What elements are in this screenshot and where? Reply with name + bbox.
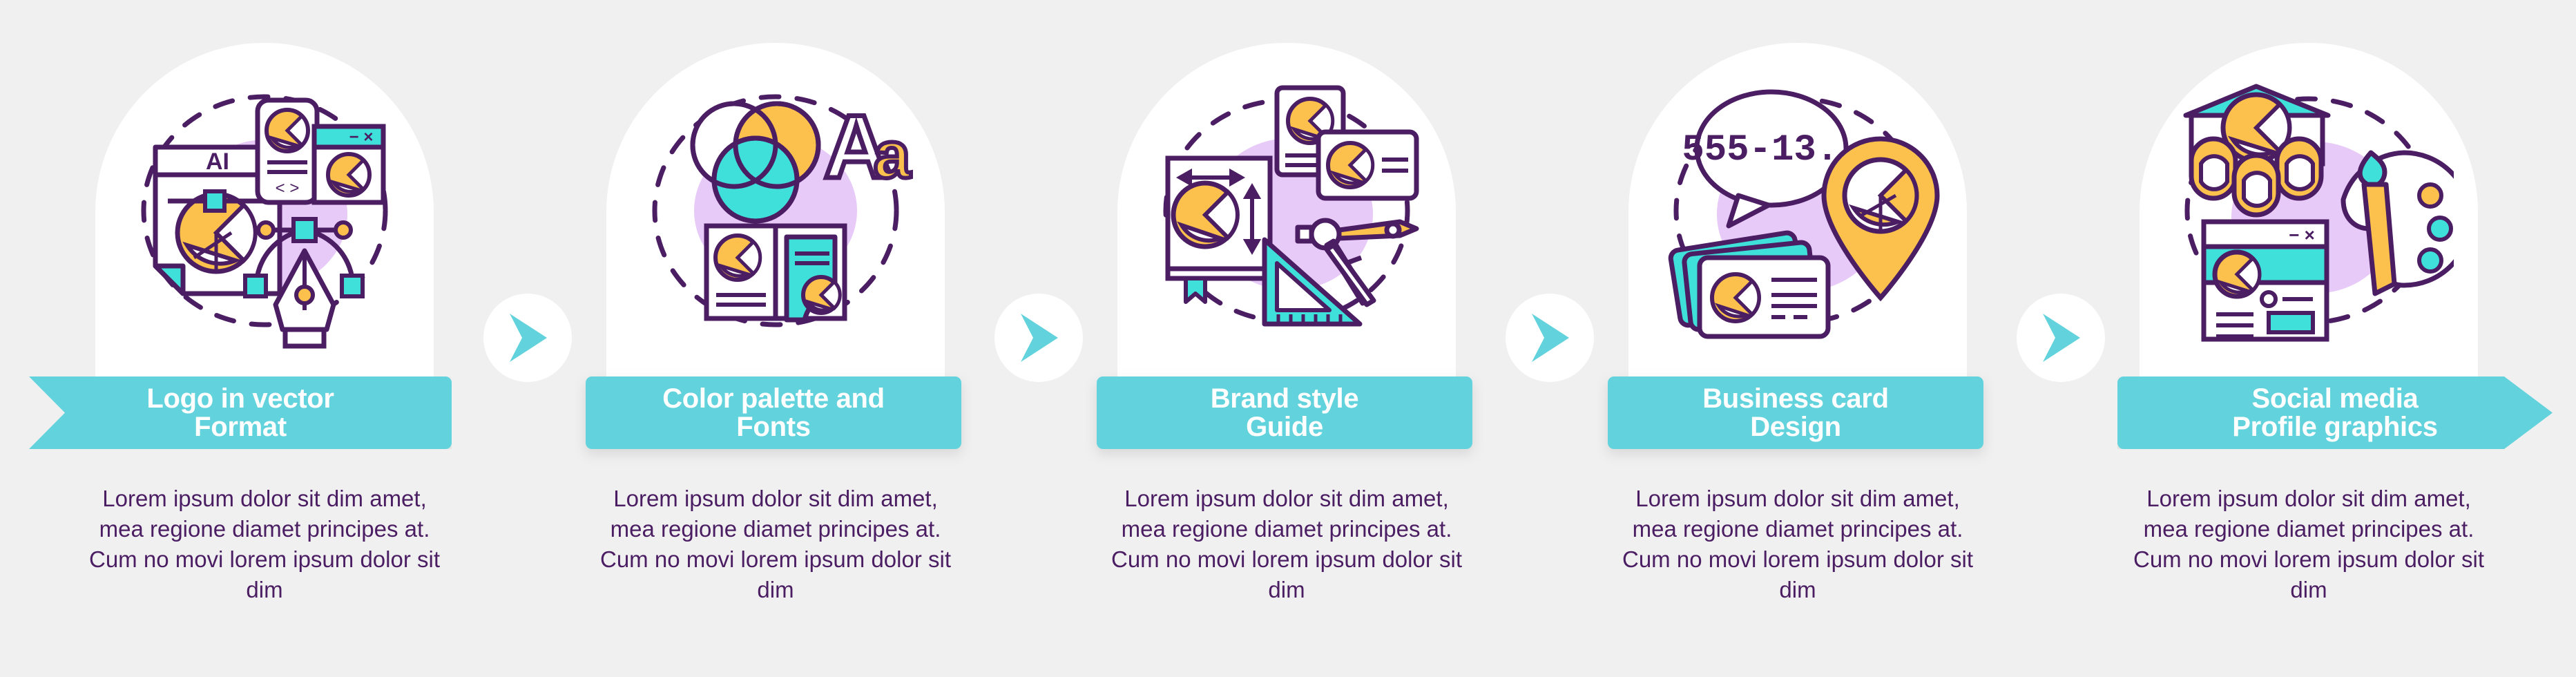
step-3-ribbon[interactable]: Brand style Guide xyxy=(1097,376,1472,449)
step-1: AI < > xyxy=(21,0,504,677)
svg-text:− ×: − × xyxy=(349,128,374,146)
step-2: A a xyxy=(532,0,1015,677)
step-4: 555-13.. xyxy=(1554,0,2037,677)
chevron-right-icon xyxy=(1014,311,1064,365)
infographic-board: AI < > xyxy=(0,0,2576,677)
step-3: Brand style Guide Lorem ipsum dolor sit … xyxy=(1043,0,1526,677)
step-4-description: Lorem ipsum dolor sit dim amet, mea regi… xyxy=(1615,484,1981,605)
svg-text:AI: AI xyxy=(206,149,229,175)
chevron-right-icon xyxy=(503,311,552,365)
step-2-title: Color palette and Fonts xyxy=(650,385,897,441)
step-5-title: Social media Profile graphics xyxy=(2220,385,2450,441)
connector-2 xyxy=(994,294,1083,382)
step-5-description: Lorem ipsum dolor sit dim amet, mea regi… xyxy=(2126,484,2492,605)
step-4-ribbon[interactable]: Business card Design xyxy=(1608,376,1983,449)
step-3-description: Lorem ipsum dolor sit dim amet, mea regi… xyxy=(1104,484,1470,605)
step-1-description: Lorem ipsum dolor sit dim amet, mea regi… xyxy=(81,484,448,605)
step-5: − × xyxy=(2065,0,2548,677)
step-2-description: Lorem ipsum dolor sit dim amet, mea regi… xyxy=(593,484,959,605)
business-card-design-icon: 555-13.. xyxy=(1628,48,1967,373)
connector-3 xyxy=(1506,294,1594,382)
color-palette-fonts-icon: A a xyxy=(606,48,945,373)
step-1-title: Logo in vector Format xyxy=(134,385,346,441)
chevron-right-icon xyxy=(2036,311,2086,365)
social-media-profile-graphics-icon: − × xyxy=(2140,48,2478,373)
connector-1 xyxy=(483,294,572,382)
brand-style-guide-icon xyxy=(1117,48,1456,373)
svg-text:− ×: − × xyxy=(2289,225,2315,245)
step-5-ribbon[interactable]: Social media Profile graphics xyxy=(2117,376,2553,449)
connector-4 xyxy=(2017,294,2105,382)
chevron-right-icon xyxy=(1525,311,1575,365)
svg-text:a: a xyxy=(874,118,911,192)
step-1-ribbon[interactable]: Logo in vector Format xyxy=(29,376,452,449)
logo-vector-icon: AI < > xyxy=(95,48,434,373)
step-2-ribbon[interactable]: Color palette and Fonts xyxy=(586,376,961,449)
svg-text:< >: < > xyxy=(276,179,300,198)
step-3-title: Brand style Guide xyxy=(1198,385,1372,441)
step-4-title: Business card Design xyxy=(1690,385,1901,441)
